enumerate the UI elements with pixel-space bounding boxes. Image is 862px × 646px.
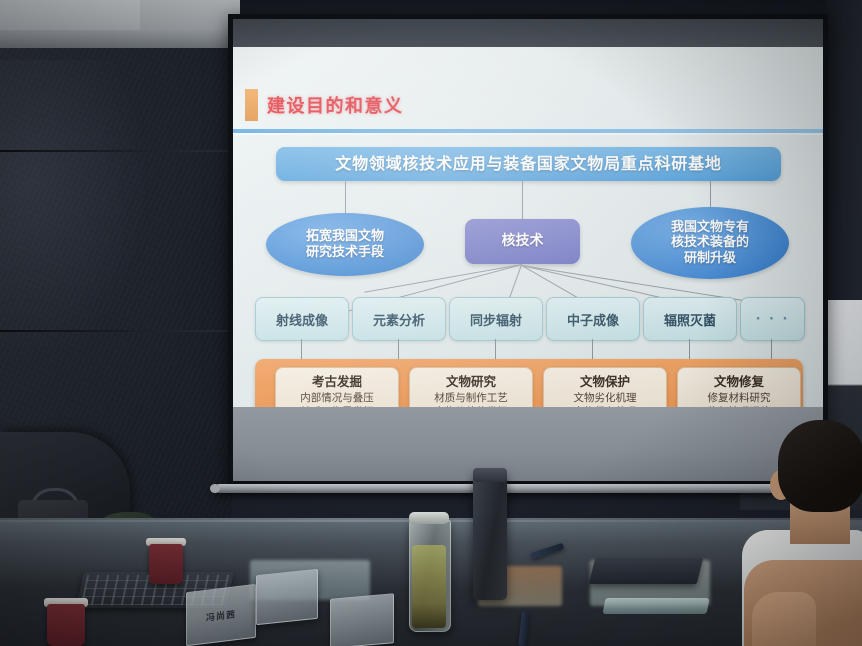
slide-title: 建设目的和意义 — [267, 92, 404, 118]
application-line1-2: 文物劣化机理 — [574, 392, 637, 405]
tech-node-5: · · · — [740, 297, 805, 341]
tablet-device[interactable] — [589, 558, 703, 584]
presentation-slide: 建设目的和意义 文物领域核技术应用与装备国家文物局重点科研基地 拓宽我国文物 研… — [233, 47, 823, 407]
application-heading-2: 文物保护 — [580, 371, 630, 390]
application-heading-0: 考古发掘 — [312, 371, 362, 390]
title-divider-highlight — [233, 133, 823, 135]
paper-cup-1[interactable] — [47, 604, 85, 646]
branch-left-line1: 拓宽我国文物 — [306, 229, 384, 244]
connector-root-core — [522, 181, 523, 219]
application-line1-0: 内部情况与叠压 — [300, 392, 374, 405]
connector-root-left — [345, 181, 346, 213]
application-line1-1: 材质与制作工艺 — [434, 392, 508, 405]
screen-bar-left-cap — [210, 484, 220, 493]
tech-node-4: 辐照灭菌 — [643, 297, 737, 341]
branch-node-left: 拓宽我国文物 研究技术手段 — [266, 213, 424, 276]
screen-weight-bar — [215, 484, 840, 493]
branch-right-line2: 核技术装备的 — [671, 235, 749, 250]
conference-room-photo: 建设目的和意义 文物领域核技术应用与装备国家文物局重点科研基地 拓宽我国文物 研… — [0, 0, 862, 646]
connector-root-right — [710, 181, 711, 207]
ceiling-soffit — [0, 0, 140, 30]
smartphone[interactable] — [603, 598, 710, 614]
screen-blank-area — [233, 407, 823, 481]
branch-node-right: 我国文物专有 核技术装备的 研制升级 — [631, 207, 789, 279]
paper-cup-2[interactable] — [149, 544, 183, 584]
title-accent-bar — [245, 89, 258, 121]
name-placard-2 — [256, 569, 318, 626]
application-heading-1: 文物研究 — [446, 371, 496, 390]
application-line1-3: 修复材料研究 — [708, 392, 771, 405]
name-placard-1: 冯尚茜 — [186, 584, 256, 646]
tech-node-3: 中子成像 — [546, 297, 640, 341]
tumbler-cap[interactable] — [409, 512, 449, 524]
attendee-hand — [752, 592, 816, 646]
branch-right-line3: 研制升级 — [684, 251, 736, 266]
thermos-flask[interactable] — [473, 470, 507, 600]
tech-node-0: 射线成像 — [255, 297, 349, 341]
branch-right-line1: 我国文物专有 — [671, 220, 749, 235]
wall-light-glow — [0, 60, 150, 360]
core-technology-node: 核技术 — [465, 219, 580, 264]
branch-left-line2: 研究技术手段 — [306, 245, 384, 260]
application-heading-3: 文物修复 — [714, 371, 764, 390]
wall-seam-upper — [0, 150, 232, 152]
diagram-canvas: 文物领域核技术应用与装备国家文物局重点科研基地 拓宽我国文物 研究技术手段 核技… — [233, 137, 823, 435]
projection-screen: 建设目的和意义 文物领域核技术应用与装备国家文物局重点科研基地 拓宽我国文物 研… — [233, 19, 823, 481]
screen-top-band — [233, 19, 823, 47]
tech-node-1: 元素分析 — [352, 297, 446, 341]
diagram-root-node: 文物领域核技术应用与装备国家文物局重点科研基地 — [276, 147, 781, 181]
tech-node-2: 同步辐射 — [449, 297, 543, 341]
wall-seam-lower — [0, 330, 232, 332]
tea-leaves — [412, 545, 446, 628]
name-placard-3 — [330, 593, 394, 646]
thermos-cap[interactable] — [473, 468, 507, 482]
attendee-head — [778, 420, 862, 512]
name-placard-1-text: 冯尚茜 — [206, 607, 236, 624]
